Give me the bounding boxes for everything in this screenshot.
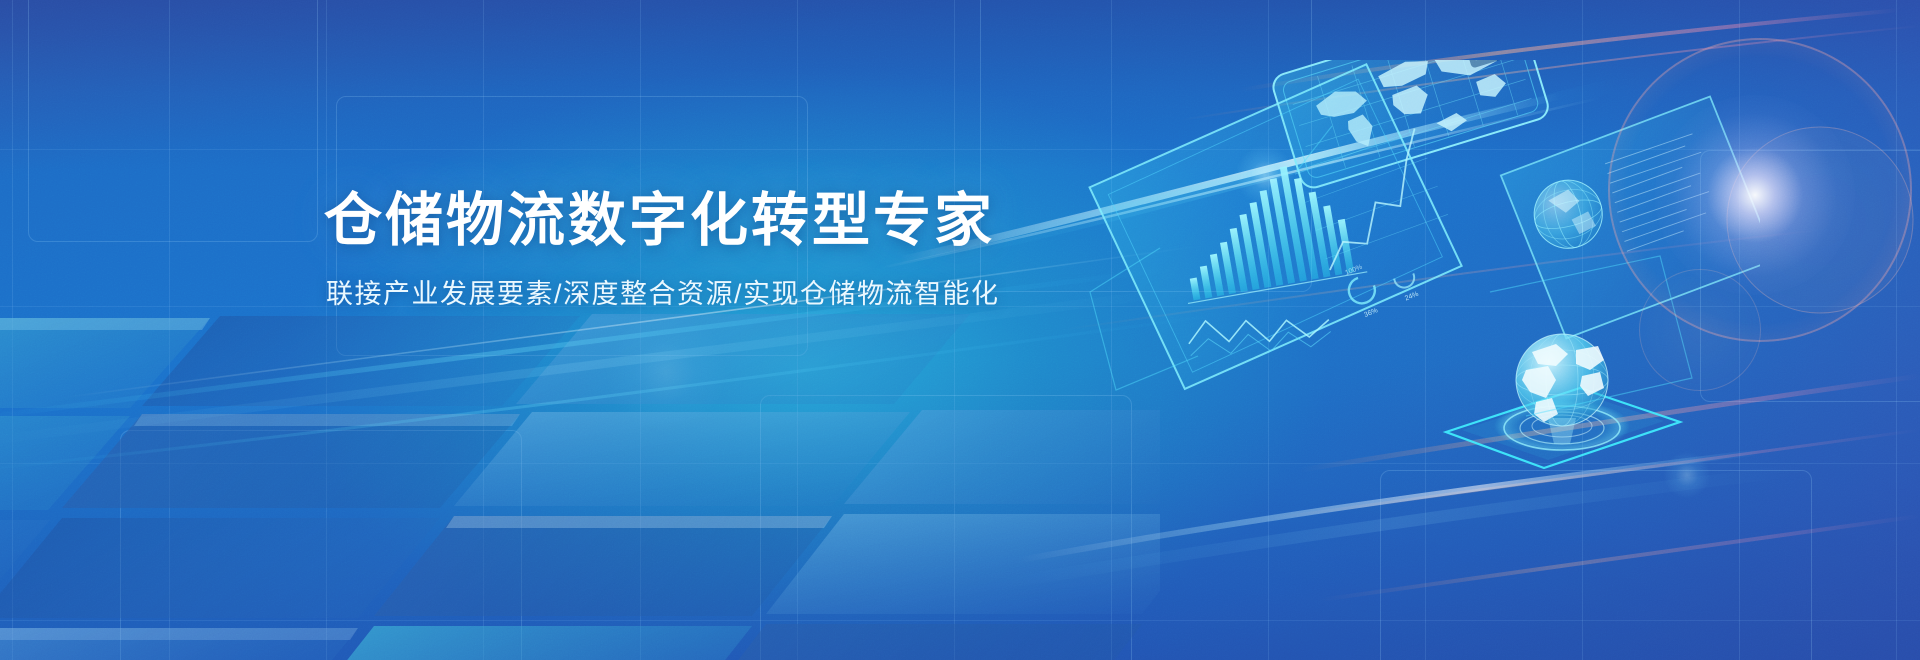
tile xyxy=(0,518,440,618)
hero-banner: ASIA xyxy=(0,0,1920,660)
hologram-cluster: ASIA xyxy=(1020,60,1760,480)
tile-highlight xyxy=(134,414,520,426)
tile xyxy=(516,314,970,404)
banner-subheadline: 联接产业发展要素/深度整合资源/实现仓储物流智能化 xyxy=(326,277,1024,312)
tile xyxy=(686,624,1142,660)
solid-globe xyxy=(1516,334,1608,426)
tile xyxy=(62,414,520,508)
grid-box xyxy=(28,0,318,242)
faceted-tiles xyxy=(0,290,1160,660)
accent-glow xyxy=(606,312,726,432)
tile xyxy=(374,516,832,616)
donut-label: 24% xyxy=(1404,291,1420,303)
grid-box xyxy=(1380,470,1812,660)
tile-highlight xyxy=(446,516,832,528)
tile-highlight xyxy=(0,628,358,640)
banner-copy: 仓储物流数字化转型专家 联接产业发展要素/深度整合资源/实现仓储物流智能化 xyxy=(324,188,1024,312)
tile-highlight xyxy=(0,318,210,330)
tile xyxy=(766,514,1160,614)
tile xyxy=(142,316,580,406)
accent-glow xyxy=(1236,146,1294,204)
accent-glow xyxy=(1664,452,1710,498)
lens-flare-core xyxy=(1655,95,1855,295)
hologram-svg: ASIA xyxy=(1020,60,1760,480)
tile xyxy=(292,626,752,660)
banner-headline: 仓储物流数字化转型专家 xyxy=(324,188,1024,255)
globe-pedestal xyxy=(1446,334,1680,468)
faceted-tiles-svg xyxy=(0,290,1160,660)
